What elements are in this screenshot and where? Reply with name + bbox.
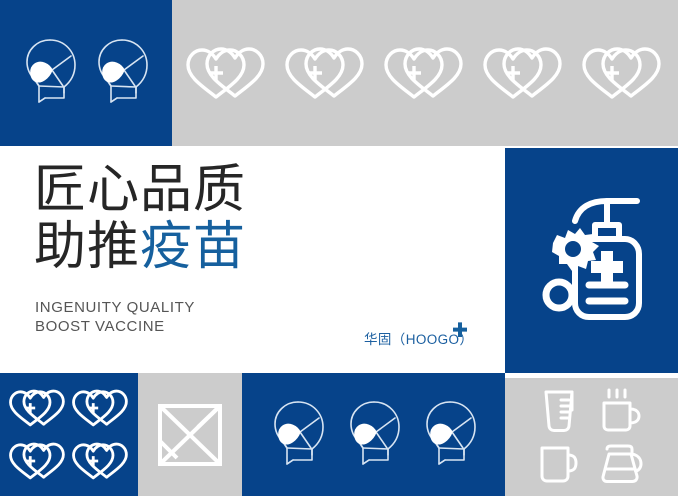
masked-face-icon (267, 396, 329, 474)
headline-panel: 匠心品质 助推疫苗 INGENUITY QUALITY BOOST VACCIN… (0, 146, 505, 373)
double-heart-plus-icon (282, 44, 370, 102)
mug-icon (537, 442, 581, 486)
headline-line-2-accent: 疫苗 (140, 217, 246, 277)
top-double-heart-panel (172, 0, 678, 146)
masked-face-icon (19, 34, 81, 112)
double-heart-plus-icon (70, 440, 132, 482)
subline-line-1: INGENUITY QUALITY (35, 298, 195, 317)
masked-face-icon-row (0, 0, 172, 146)
measuring-beaker-icon (539, 388, 579, 434)
plus-icon (450, 320, 470, 340)
headline-line-1: 匠心品质 (34, 162, 246, 219)
headline-line-2: 助推疫苗 (34, 219, 246, 276)
poster-canvas: 匠心品质 助推疫苗 INGENUITY QUALITY BOOST VACCIN… (0, 0, 678, 496)
double-heart-plus-icon (183, 44, 271, 102)
sanitizer-icon-wrap (505, 148, 678, 373)
broken-image-icon (155, 401, 225, 469)
drinkware-icon-grid (505, 378, 678, 496)
bottom-double-heart-panel (0, 373, 138, 496)
double-heart-icon-row (172, 0, 678, 146)
masked-face-icon (91, 34, 153, 112)
steaming-mug-icon (597, 388, 643, 434)
masked-face-icon (419, 396, 481, 474)
subline-line-2: BOOST VACCINE (35, 317, 195, 336)
double-heart-plus-icon (579, 44, 667, 102)
bottom-masked-faces-panel (242, 373, 505, 496)
headline-block: 匠心品质 助推疫苗 (34, 162, 246, 276)
drinkware-panel (505, 378, 678, 496)
broken-image-wrap (138, 373, 242, 496)
germ-dot-shape (546, 282, 572, 308)
top-masked-faces-panel (0, 0, 172, 146)
masked-face-icon-row (242, 373, 505, 496)
double-heart-plus-icon (480, 44, 568, 102)
broken-image-placeholder-panel (138, 373, 242, 496)
double-heart-icon-grid (0, 373, 138, 496)
headline-line-2-dark: 助推 (34, 217, 140, 277)
double-heart-plus-icon (7, 440, 69, 482)
carafe-icon (597, 442, 643, 486)
double-heart-plus-icon (7, 387, 69, 429)
subline-block: INGENUITY QUALITY BOOST VACCINE (35, 298, 195, 336)
double-heart-plus-icon (381, 44, 469, 102)
sanitizer-pump-bottle-icon (527, 191, 657, 331)
sanitizer-panel (505, 148, 678, 373)
masked-face-icon (343, 396, 405, 474)
double-heart-plus-icon (70, 387, 132, 429)
